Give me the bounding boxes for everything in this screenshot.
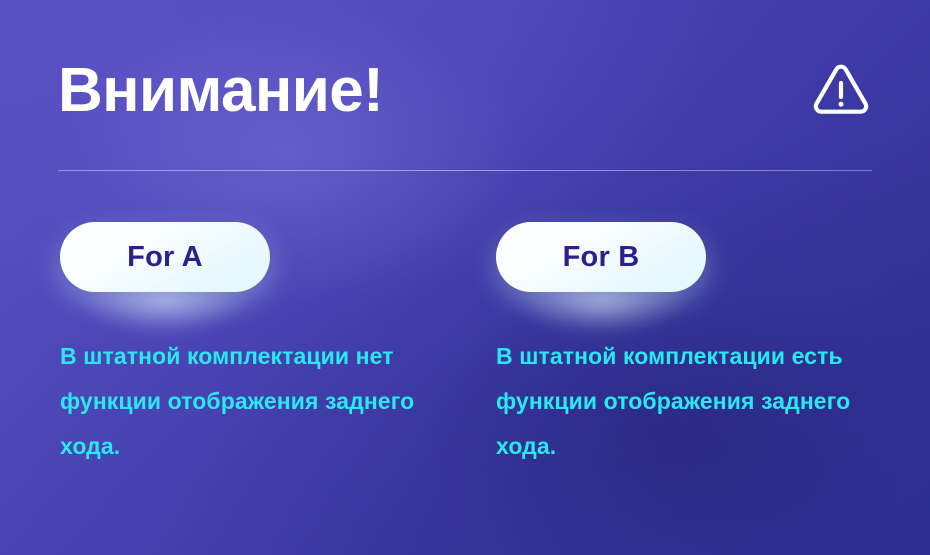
column-b: For B В штатной комплектации есть функци… (496, 222, 896, 469)
slide-header: Внимание! (58, 52, 872, 130)
warning-triangle-icon (812, 62, 870, 120)
for-a-button-label: For A (127, 243, 203, 272)
for-b-button[interactable]: For B (496, 222, 706, 292)
page-title: Внимание! (58, 52, 383, 130)
header-divider (58, 170, 872, 171)
for-a-button[interactable]: For A (60, 222, 270, 292)
for-b-button-label: For B (563, 243, 640, 272)
column-a: For A В штатной комплектации нет функции… (60, 222, 460, 469)
column-a-description: В штатной комплектации нет функции отобр… (60, 334, 446, 469)
pill-wrapper-b: For B (496, 222, 706, 292)
pill-wrapper-a: For A (60, 222, 270, 292)
column-b-description: В штатной комплектации есть функции отоб… (496, 334, 888, 469)
slide-canvas: Внимание! For A В штатной комплектации н… (0, 0, 930, 555)
